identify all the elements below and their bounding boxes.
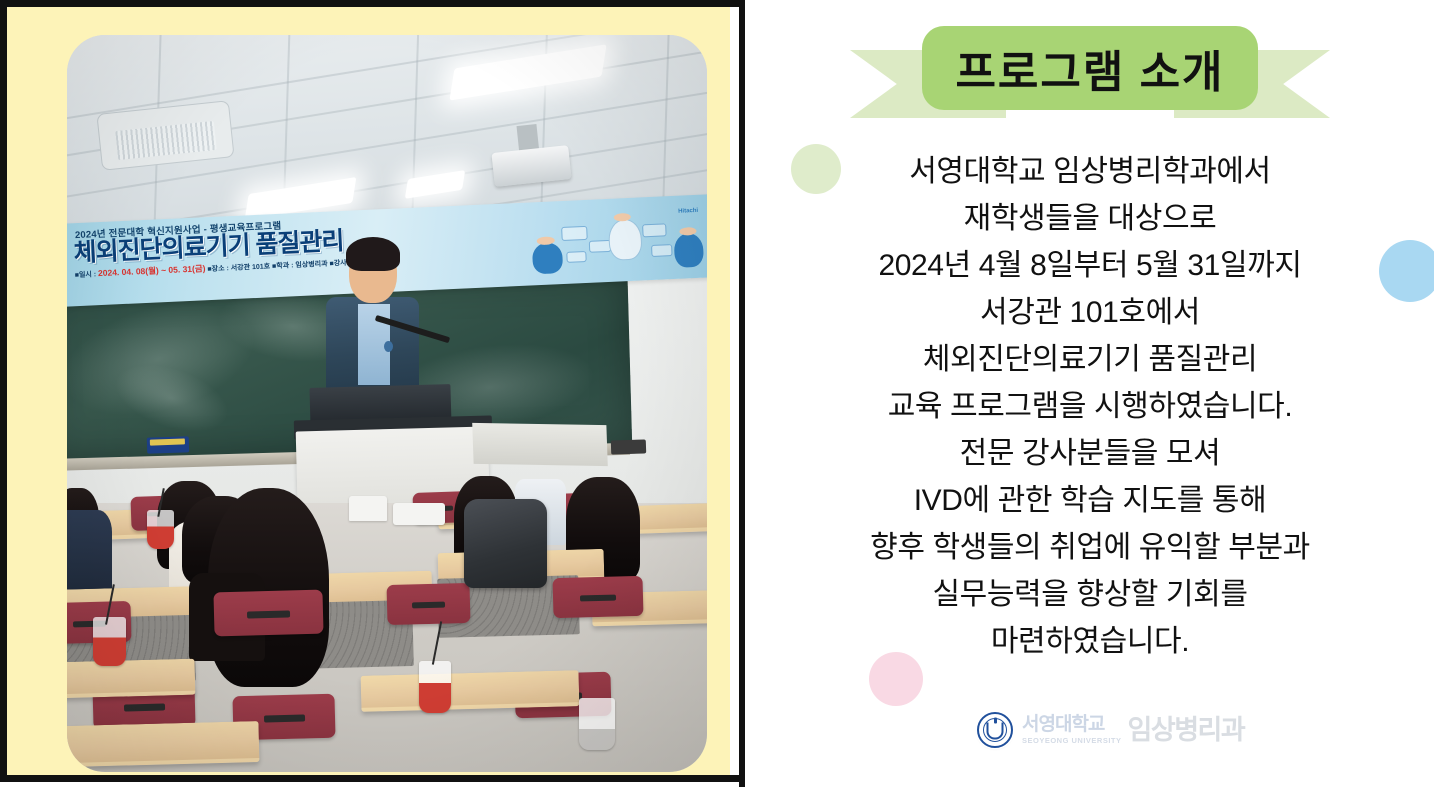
banner-icon-box [651,244,673,257]
banner-icon-box [643,223,667,237]
classroom-lecture-photo: 2024년 전문대학 혁신지원사업 - 평생교육프로그램 체외진단의료기기 품질… [67,35,707,772]
left-border-rule [0,7,7,775]
slide-root: 2024년 전문대학 혁신지원사업 - 평생교육프로그램 체외진단의료기기 품질… [0,0,1434,787]
tissue-box [393,503,444,525]
emblem-mark [987,722,1004,739]
ribbon-body: 프로그램 소개 [922,26,1258,110]
desk [67,721,259,768]
description-line: 서영대학교 임상병리학과에서 [775,148,1405,195]
banner-figure [608,219,643,261]
banner-place: ■장소 : 서강관 101호 [208,264,271,274]
eraser-box [147,437,189,455]
description-line: 체외진단의료기기 품질관리 [775,336,1405,383]
drink-cup [147,510,174,548]
left-photo-panel: 2024년 전문대학 혁신지원사업 - 평생교육프로그램 체외진단의료기기 품질… [7,7,730,775]
drink-cup [419,661,451,713]
description-line: 향후 학생들의 취업에 유익할 부분과 [775,524,1405,571]
department-name: 임상병리과 [1128,717,1245,744]
tissue-roll [349,496,387,521]
university-name-block: 서영대학교 SEOYEONG UNIVERSITY [1022,715,1122,745]
banner-figure [532,242,564,275]
lecturer-hair [346,237,400,271]
banner-figure [674,232,704,267]
drink-cup [579,698,615,750]
description-line: IVD에 관한 학습 지도를 통해 [775,477,1405,524]
description-line: 서강관 101호에서 [775,289,1405,336]
description-line: 실무능력을 향상할 기회를 [775,571,1405,618]
chair [214,590,324,637]
chair [386,583,470,625]
banner-icon-box [562,226,588,241]
description-line: 전문 강사분들을 모셔 [775,430,1405,477]
banner-text-block: 2024년 전문대학 혁신지원사업 - 평생교육프로그램 체외진단의료기기 품질… [73,207,515,303]
university-name-ko: 서영대학교 [1022,715,1122,734]
program-description: 서영대학교 임상병리학과에서 재학생들을 대상으로 2024년 4월 8일부터 … [775,148,1405,665]
description-line: 2024년 4월 8일부터 5월 31일까지 [775,242,1405,289]
desk [67,659,195,700]
drink-cup [93,617,126,666]
banner-dept: ■학과 : 임상병리과 [272,261,328,271]
backpack [464,499,547,587]
footer-logo: 서영대학교 SEOYEONG UNIVERSITY 임상병리과 [977,712,1244,748]
desk [361,670,579,712]
banner-date: 2024. 04. 08(월) ~ 05. 31(금) [98,263,206,278]
footer-logo-texts: 서영대학교 SEOYEONG UNIVERSITY 임상병리과 [1022,715,1244,745]
banner-date-label: ■일시 : [75,271,97,279]
university-emblem-icon [977,712,1013,748]
description-line: 교육 프로그램을 시행하였습니다. [775,383,1405,430]
podium-side-desk [473,423,609,467]
right-content-panel: 프로그램 소개 서영대학교 임상병리학과에서 재학생들을 대상으로 2024년 … [745,0,1434,787]
desk-phone [611,440,647,455]
university-name-en: SEOYEONG UNIVERSITY [1022,737,1122,745]
chair [553,576,644,618]
page-title: 프로그램 소개 [955,36,1224,100]
description-line: 재학생들을 대상으로 [775,195,1405,242]
banner-icon-box [567,251,587,263]
header-ribbon: 프로그램 소개 [850,26,1330,124]
description-line: 마련하였습니다. [775,618,1405,665]
banner-brand-logo: Hitachi [678,208,698,215]
